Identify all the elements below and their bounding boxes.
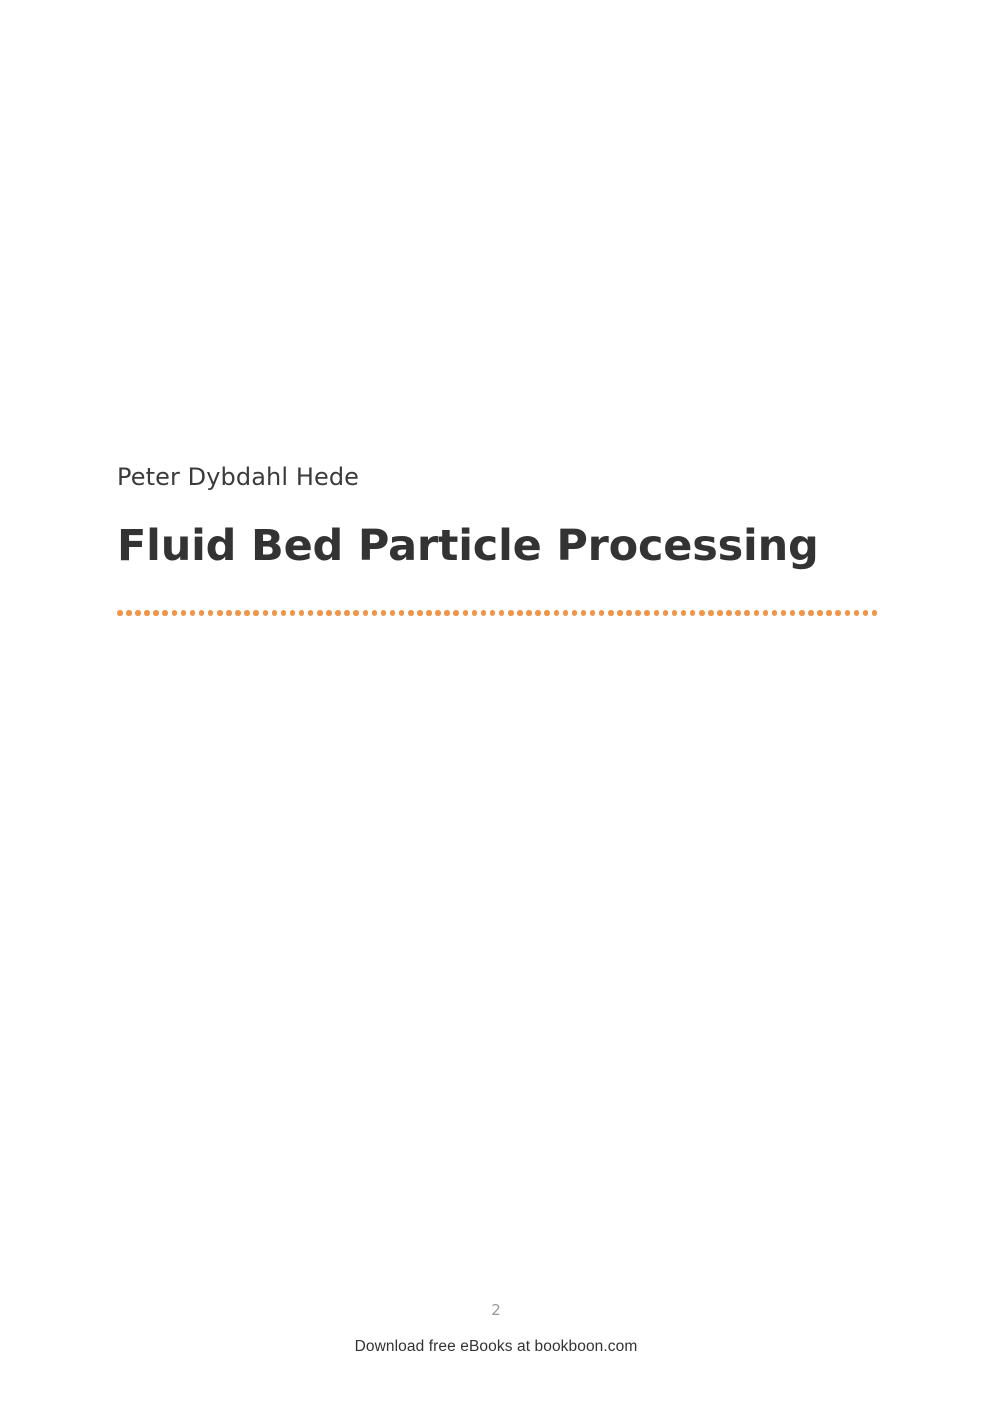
divider-dot (153, 610, 159, 616)
divider-dot (872, 610, 877, 616)
divider-dot (390, 610, 396, 616)
divider-dot (717, 610, 723, 616)
divider-dot (263, 610, 269, 616)
divider-dot (381, 610, 387, 616)
divider-dot (526, 610, 532, 616)
divider-dot (335, 610, 341, 616)
divider-dot (735, 610, 741, 616)
divider-dot (826, 610, 832, 616)
divider-dot (226, 610, 232, 616)
divider-dot (435, 610, 441, 616)
divider-dot (572, 610, 578, 616)
divider-dot (426, 610, 432, 616)
divider-dot (708, 610, 714, 616)
author-name: Peter Dybdahl Hede (117, 462, 877, 492)
divider-dot (353, 610, 359, 616)
divider-dot (563, 610, 569, 616)
divider-dot (281, 610, 287, 616)
divider-dot (835, 610, 841, 616)
page-footer: 2 Download free eBooks at bookboon.com (0, 1300, 992, 1357)
divider-dot (681, 610, 687, 616)
divider-dot (754, 610, 760, 616)
divider-dot (453, 610, 459, 616)
divider-dot (617, 610, 623, 616)
title-block: Peter Dybdahl Hede Fluid Bed Particle Pr… (117, 462, 877, 572)
divider-dot (235, 610, 241, 616)
divider-dot (535, 610, 541, 616)
divider-dot (499, 610, 505, 616)
divider-dot (299, 610, 305, 616)
divider-dot (508, 610, 514, 616)
divider-dot (372, 610, 378, 616)
divider-dot (699, 610, 705, 616)
divider-dot (690, 610, 696, 616)
divider-dot (408, 610, 414, 616)
divider-dot (253, 610, 259, 616)
divider-dot (672, 610, 678, 616)
document-page: Peter Dybdahl Hede Fluid Bed Particle Pr… (0, 0, 992, 1403)
divider-dot (626, 610, 632, 616)
divider-dot (644, 610, 650, 616)
divider-dot (208, 610, 214, 616)
divider-dot (481, 610, 487, 616)
divider-dot (199, 610, 205, 616)
divider-dot (444, 610, 450, 616)
divider-dot (272, 610, 278, 616)
divider-dot (463, 610, 469, 616)
divider-dot (744, 610, 750, 616)
divider-dot (308, 610, 314, 616)
divider-dot (663, 610, 669, 616)
divider-dot (144, 610, 150, 616)
footer-download-note: Download free eBooks at bookboon.com (0, 1337, 992, 1357)
divider-dot (654, 610, 660, 616)
divider-dot (635, 610, 641, 616)
divider-dot (217, 610, 223, 616)
divider-dot (817, 610, 823, 616)
divider-dot (399, 610, 405, 616)
divider-dot (781, 610, 787, 616)
divider-dot (490, 610, 496, 616)
divider-dot (162, 610, 168, 616)
divider-dot (472, 610, 478, 616)
divider-dot (126, 610, 132, 616)
divider-dot (554, 610, 560, 616)
divider-dot (581, 610, 587, 616)
divider-dot (517, 610, 523, 616)
divider-dot (772, 610, 778, 616)
divider-dot (599, 610, 605, 616)
divider-dot (344, 610, 350, 616)
divider-dot (608, 610, 614, 616)
divider-dot (863, 610, 869, 616)
divider-dot (808, 610, 814, 616)
divider-dot (417, 610, 423, 616)
divider-dot (763, 610, 769, 616)
divider-dot (854, 610, 860, 616)
divider-dot (290, 610, 296, 616)
divider-dot (172, 610, 178, 616)
divider-dot (790, 610, 796, 616)
divider-dot (244, 610, 250, 616)
divider-dot (181, 610, 187, 616)
divider-dot (845, 610, 851, 616)
book-title: Fluid Bed Particle Processing (117, 520, 877, 572)
divider-dot (135, 610, 141, 616)
divider-dot (544, 610, 550, 616)
dotted-divider (117, 608, 877, 618)
divider-dot (117, 610, 123, 616)
divider-dot (190, 610, 196, 616)
divider-dot (799, 610, 805, 616)
divider-dot (317, 610, 323, 616)
divider-dot (590, 610, 596, 616)
page-number: 2 (0, 1300, 992, 1320)
divider-dot (363, 610, 369, 616)
divider-dot (726, 610, 732, 616)
divider-dot (326, 610, 332, 616)
